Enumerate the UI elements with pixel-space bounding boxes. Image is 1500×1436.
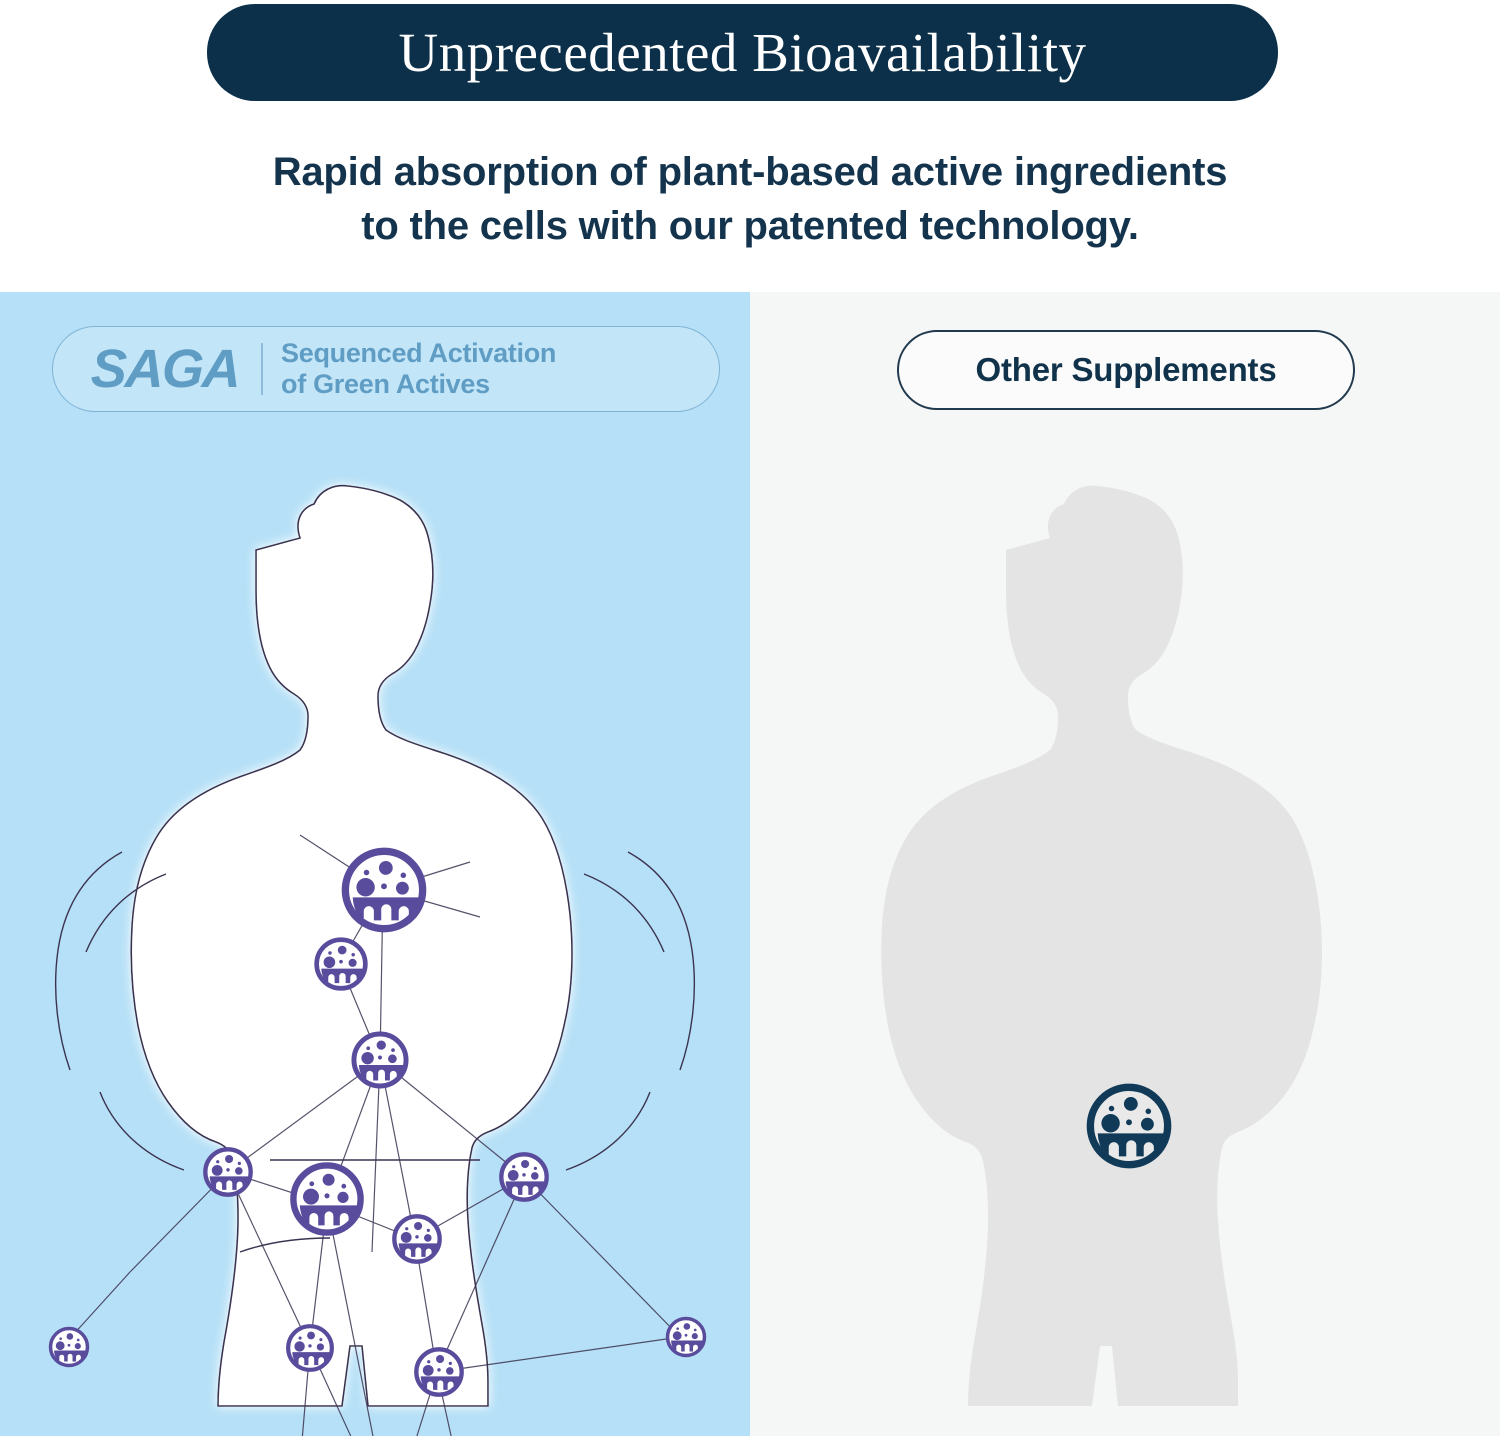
- panel-other-supplements: Other Supplements: [750, 292, 1500, 1436]
- panel-saga: SAGA Sequenced Activation of Green Activ…: [0, 292, 750, 1436]
- infographic-page: Unprecedented Bioavailability Rapid abso…: [0, 0, 1500, 1436]
- molecule-cell-icon: [317, 940, 366, 989]
- molecule-cell-icon: [205, 1149, 250, 1194]
- subtitle-line-1: Rapid absorption of plant-based active i…: [0, 145, 1500, 199]
- header: Unprecedented Bioavailability Rapid abso…: [0, 0, 1500, 292]
- saga-body-figure: [0, 292, 750, 1436]
- molecule-cell-icon: [668, 1319, 705, 1356]
- molecule-cell-icon: [345, 851, 422, 928]
- molecule-cell-icon: [293, 1165, 360, 1232]
- molecule-cell-icon: [288, 1326, 332, 1370]
- molecule-cell-icon: [501, 1154, 546, 1199]
- molecule-cell-icon: [51, 1329, 88, 1366]
- molecule-cell-icon: [1090, 1087, 1167, 1164]
- subtitle: Rapid absorption of plant-based active i…: [0, 145, 1500, 254]
- molecule-cell-icon: [416, 1349, 461, 1394]
- grey-silhouette: [806, 486, 1445, 1406]
- title-pill: Unprecedented Bioavailability: [207, 4, 1278, 101]
- other-body-figure: [750, 292, 1500, 1436]
- molecule-cell-icon: [394, 1216, 439, 1261]
- comparison-panels: SAGA Sequenced Activation of Green Activ…: [0, 292, 1500, 1436]
- molecule-cell-icon: [354, 1034, 406, 1086]
- page-title: Unprecedented Bioavailability: [398, 25, 1086, 80]
- subtitle-line-2: to the cells with our patented technolog…: [0, 199, 1500, 253]
